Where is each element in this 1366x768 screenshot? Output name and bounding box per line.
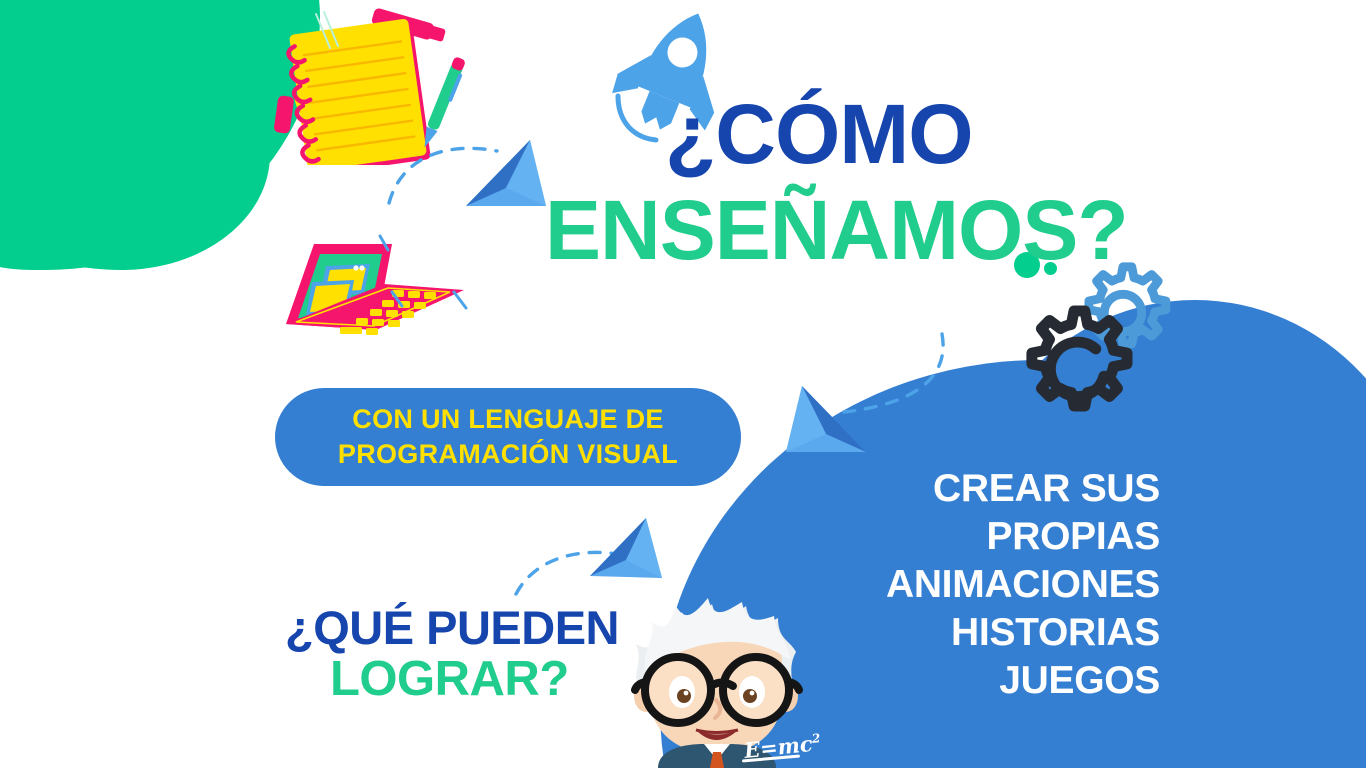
green-blob-shape-secondary [0, 60, 270, 270]
eraser-icon [273, 95, 294, 134]
outcome-item: PROPIAS [820, 513, 1160, 561]
gear-icon [1006, 300, 1142, 436]
question-line1: ¿QUÉ PUEDEN [285, 604, 619, 651]
scientist-avatar-icon [600, 578, 870, 768]
slide-canvas: ¿CÓMO ENSEÑAMOS? CON UN LENGUAJE DE PROG… [0, 0, 1366, 768]
formula-exponent: 2 [811, 731, 821, 746]
pill-line-2: PROGRAMACIÓN VISUAL [338, 437, 678, 472]
page-title-line1: ¿CÓMO [665, 92, 973, 176]
language-callout-pill[interactable]: CON UN LENGUAJE DE PROGRAMACIÓN VISUAL [275, 388, 741, 486]
laptop-icon [272, 232, 472, 378]
question-line2: LOGRAR? [330, 655, 569, 704]
outcome-item: HISTORIAS [820, 609, 1160, 657]
pill-line-1: CON UN LENGUAJE DE [352, 402, 663, 437]
outcome-item: JUEGOS [820, 657, 1160, 705]
page-title-line2: ENSEÑAMOS? [545, 188, 1128, 272]
outcome-item: CREAR SUS [820, 465, 1160, 513]
outcome-item: ANIMACIONES [820, 561, 1160, 609]
outcomes-list: CREAR SUS PROPIAS ANIMACIONES HISTORIAS … [820, 465, 1160, 705]
paper-plane-icon [762, 378, 872, 470]
